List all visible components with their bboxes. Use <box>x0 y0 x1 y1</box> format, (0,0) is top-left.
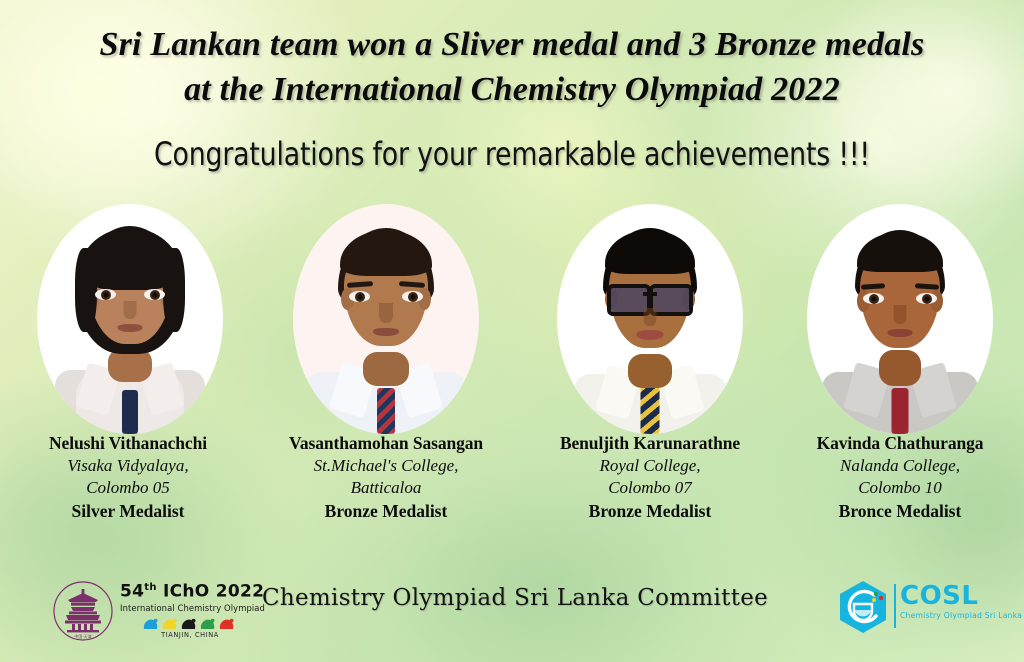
avatar <box>37 204 223 434</box>
medalist-city: Batticaloa <box>258 477 514 499</box>
medal-label: Bronze Medalist <box>522 499 778 524</box>
icho-seal-icon: 中国·天津 <box>52 580 114 642</box>
cosl-logo: COSL Chemistry Olympiad Sri Lanka <box>836 578 986 636</box>
medalist-photo-0 <box>14 204 246 436</box>
portrait-nelushi-vithanachchi <box>37 204 223 434</box>
cosl-fullname: Chemistry Olympiad Sri Lanka <box>900 610 1022 621</box>
medalist-name: Kavinda Chathuranga <box>776 432 1024 455</box>
cosl-wordmark: COSL Chemistry Olympiad Sri Lanka <box>900 582 1022 621</box>
medalist-city: Colombo 07 <box>522 477 778 499</box>
avatar <box>293 204 479 434</box>
eyeglasses-icon <box>607 284 693 310</box>
icho-ring-icon-red <box>218 617 235 629</box>
avatar <box>557 204 743 434</box>
medalist-caption-3: Kavinda Chathuranga Nalanda College, Col… <box>776 432 1024 524</box>
icho-wordmark: 54th IChO 2022 International Chemistry O… <box>120 578 260 640</box>
medalist-caption-2: Benuljith Karunarathne Royal College, Co… <box>522 432 778 524</box>
medalist-caption-1: Vasanthamohan Sasangan St.Michael's Coll… <box>258 432 514 524</box>
icho-ring-icon-black <box>180 617 197 629</box>
icho-ring-icons <box>142 616 238 629</box>
medalist-photo-1 <box>270 204 502 436</box>
portrait-vasanthamohan-sasangan <box>293 204 479 434</box>
svg-text:中国·天津: 中国·天津 <box>74 633 91 639</box>
medalist-photo-2 <box>534 204 766 436</box>
cosl-hexagon-icon <box>836 580 890 634</box>
icho-edition: 54 <box>120 582 144 602</box>
medalist-photo-3 <box>784 204 1016 436</box>
poster-footer: 中国·天津 54th IChO 2022 International Chemi… <box>0 566 1024 662</box>
headline-line-1: Sri Lankan team won a Sliver medal and 3… <box>99 26 924 63</box>
portrait-benuljith-karunarathne <box>557 204 743 434</box>
portrait-kavinda-chathuranga <box>807 204 993 434</box>
medalist-caption-0: Nelushi Vithanachchi Visaka Vidyalaya, C… <box>0 432 256 524</box>
icho-title-text: IChO 2022 <box>163 582 264 602</box>
medalist-name: Benuljith Karunarathne <box>522 432 778 455</box>
headline-line-2: at the International Chemistry Olympiad … <box>0 67 1024 112</box>
icho-ring-icon-green <box>199 617 216 629</box>
medalist-school: St.Michael's College, <box>258 455 514 477</box>
icho-subtitle: International Chemistry Olympiad <box>120 602 260 614</box>
medalist-school: Visaka Vidyalaya, <box>0 455 256 477</box>
poster-headline: Sri Lankan team won a Sliver medal and 3… <box>0 22 1024 112</box>
medal-label: Bronce Medalist <box>776 499 1024 524</box>
poster-canvas: Sri Lankan team won a Sliver medal and 3… <box>0 0 1024 662</box>
medalist-school: Royal College, <box>522 455 778 477</box>
medalist-city: Colombo 05 <box>0 477 256 499</box>
icho-location: TIANJIN, CHINA <box>120 630 260 640</box>
icho-ring-icon-blue <box>142 617 159 629</box>
medalist-caption-row: Nelushi Vithanachchi Visaka Vidyalaya, C… <box>0 432 1024 532</box>
committee-label: Chemistry Olympiad Sri Lanka Committee <box>262 585 762 611</box>
icho-logo: 中国·天津 54th IChO 2022 International Chemi… <box>52 574 257 644</box>
poster-subheadline: Congratulations for your remarkable achi… <box>36 135 988 173</box>
medalist-name: Nelushi Vithanachchi <box>0 432 256 455</box>
icho-ring-icon-yellow <box>161 617 178 629</box>
medal-label: Silver Medalist <box>0 499 256 524</box>
avatar <box>807 204 993 434</box>
medal-label: Bronze Medalist <box>258 499 514 524</box>
icho-ordinal: th <box>144 582 157 593</box>
medalist-photo-row <box>0 204 1024 436</box>
medalist-school: Nalanda College, <box>776 455 1024 477</box>
cosl-divider <box>894 584 896 628</box>
icho-title: 54th IChO 2022 <box>120 578 260 602</box>
medalist-name: Vasanthamohan Sasangan <box>258 432 514 455</box>
cosl-acronym: COSL <box>900 582 1022 610</box>
medalist-city: Colombo 10 <box>776 477 1024 499</box>
